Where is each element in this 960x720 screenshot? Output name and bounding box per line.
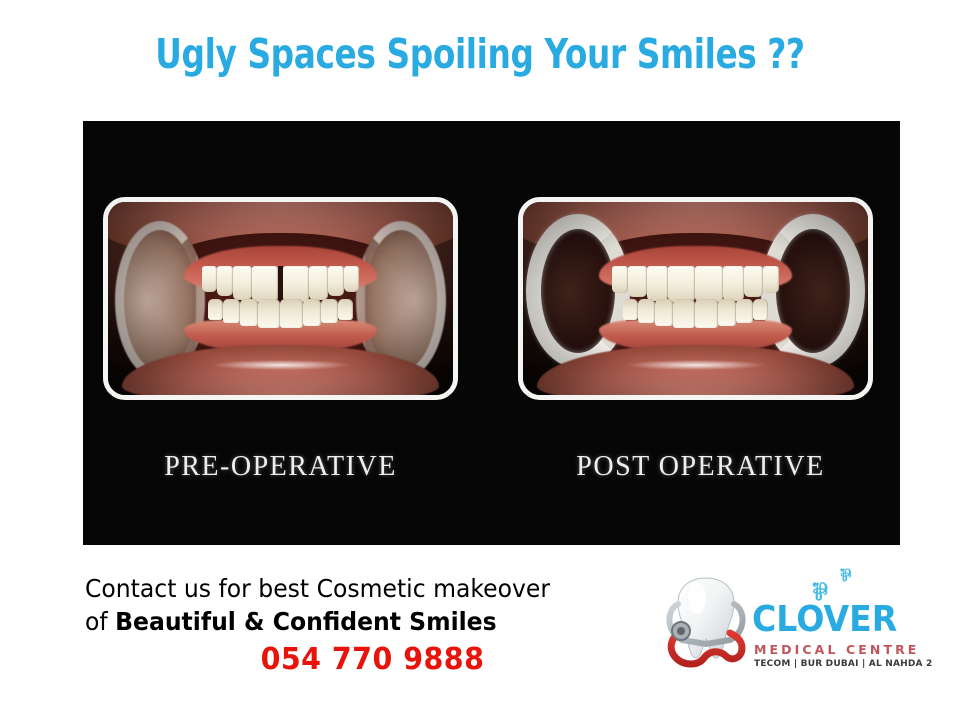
tooth [744,266,763,298]
logo-wordmark: ⅌ ⅌ CLOVER MEDICAL CENTRE TECOM | BUR DU… [752,568,922,673]
phone-number[interactable]: 054 770 9888 [99,642,645,677]
tooth [309,266,328,300]
clover-medical-centre-logo[interactable]: ⅌ ⅌ CLOVER MEDICAL CENTRE TECOM | BUR DU… [652,568,917,680]
tooth [695,299,717,329]
logo-branch-locations: TECOM | BUR DUBAI | AL NAHDA 2 [754,659,933,669]
tooth [673,299,695,329]
central-incisor-left [668,266,696,303]
tooth [338,299,353,321]
photo-row: PRE-OPERATIVE POST OPERATIVE [83,121,900,545]
tooth-with-stethoscope-icon [652,570,760,675]
contact-line-2-bold: Beautiful & Confident Smiles [115,607,496,636]
pre-operative-caption: PRE-OPERATIVE [83,451,478,483]
post-operative-caption: POST OPERATIVE [503,451,898,483]
tooth [321,299,338,324]
central-incisor-right [283,266,309,303]
tooth [303,299,322,327]
tooth [344,266,359,292]
tooth [280,299,302,329]
central-incisor-left [252,266,278,303]
tooth [723,266,743,301]
tooth [612,266,629,293]
tooth [655,299,674,327]
tooth [647,266,667,301]
central-incisor-right [695,266,723,303]
lip-highlight [627,360,765,370]
lower-teeth-arch [187,299,373,332]
tooth [208,299,223,321]
upper-teeth-arch [602,266,788,303]
tooth [233,266,252,300]
tooth [240,299,259,327]
tooth [628,266,647,298]
tooth [202,266,217,292]
tooth [638,299,655,324]
tooth [258,299,280,329]
contact-line-2: of Beautiful & Confident Smiles [85,605,626,638]
logo-brand-name: CLOVER [752,602,897,638]
upper-teeth-arch [187,266,373,303]
lower-teeth-arch [602,299,788,332]
post-operative-photo [518,197,873,400]
pre-operative-photo-image [108,202,453,395]
page-title: Ugly Spaces Spoiling Your Smiles ?? [96,30,864,79]
tooth [623,299,638,321]
tooth [718,299,737,327]
before-after-panel: PRE-OPERATIVE POST OPERATIVE [83,121,900,545]
tooth [328,266,345,297]
logo-tagline: MEDICAL CENTRE [754,642,919,657]
contact-line-2-prefix: of [85,607,115,636]
tooth [217,266,234,297]
tooth [753,299,768,321]
advertisement-slide: Ugly Spaces Spoiling Your Smiles ?? [0,0,960,720]
lip-highlight [212,360,350,370]
contact-line-1: Contact us for best Cosmetic makeover [85,572,626,605]
tooth [223,299,240,324]
tooth [736,299,753,324]
contact-block: Contact us for best Cosmetic makeover of… [85,572,660,677]
post-operative-photo-image [523,202,868,395]
tooth [763,266,780,293]
clover-leaf-icon-small: ⅌ [840,568,851,585]
pre-operative-photo [103,197,458,400]
